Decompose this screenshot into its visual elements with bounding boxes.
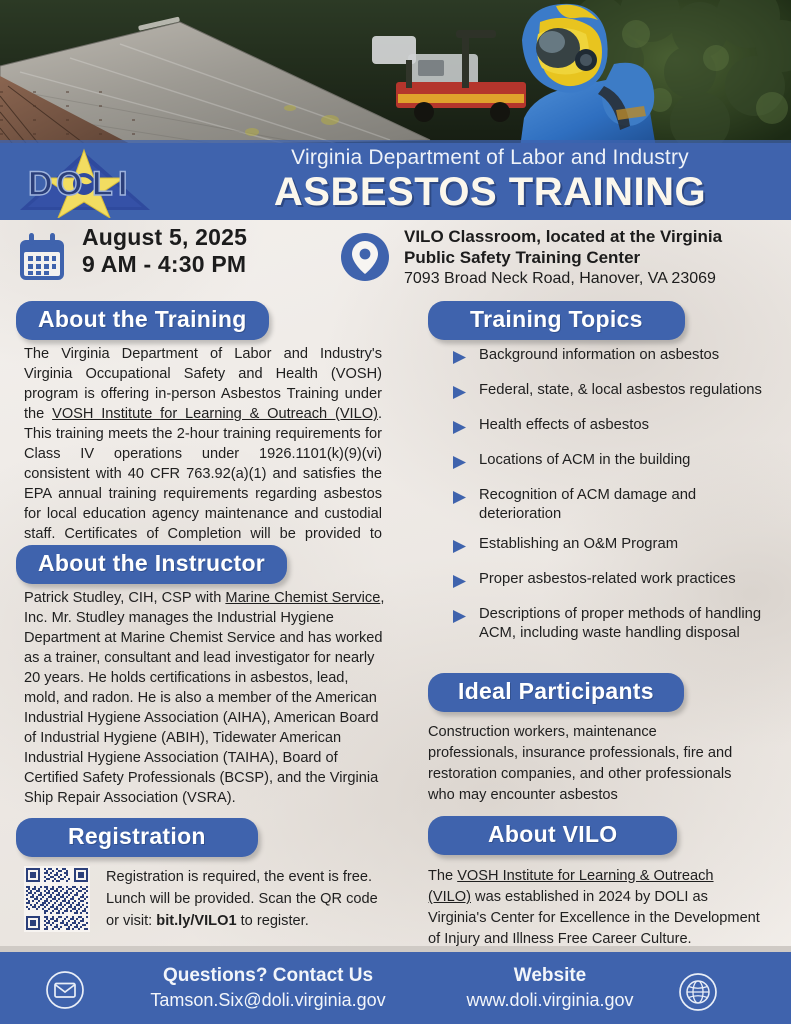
topic-label: Locations of ACM in the building: [479, 451, 690, 470]
registration-link[interactable]: bit.ly/VILO1: [156, 913, 236, 929]
svg-text:L: L: [92, 165, 114, 203]
instructor-text-1: Patrick Studley, CIH, CSP with: [24, 590, 225, 606]
event-location-block: VILO Classroom, located at the Virginia …: [404, 226, 784, 289]
arrow-right-bullet-icon: [452, 490, 467, 510]
qr-code[interactable]: [24, 866, 90, 932]
topic-label: Health effects of asbestos: [479, 416, 649, 435]
footer-bar: Questions? Contact Us Tamson.Six@doli.vi…: [0, 952, 791, 1024]
envelope-icon: [45, 970, 85, 1015]
list-item: Locations of ACM in the building: [452, 451, 772, 475]
list-item: Health effects of asbestos: [452, 416, 772, 440]
topic-label: Descriptions of proper methods of handli…: [479, 605, 772, 643]
ideal-participants-heading-wrap: Ideal Participants: [428, 673, 684, 712]
asbestos-removal-photo: [0, 0, 791, 148]
marine-chemist-link[interactable]: Marine Chemist Service: [225, 590, 380, 606]
vilo-link-1[interactable]: VOSH Institute for Learning & Outreach (…: [52, 406, 378, 422]
about-instructor-heading: About the Instructor: [16, 545, 287, 584]
hero-photo-banner: [0, 0, 791, 148]
arrow-right-bullet-icon: [452, 455, 467, 475]
event-info-strip: August 5, 2025 9 AM - 4:30 PM VILO Class…: [0, 222, 791, 294]
about-instructor-heading-wrap: About the Instructor: [16, 545, 287, 584]
arrow-right-bullet-icon: [452, 350, 467, 370]
about-instructor-body: Patrick Studley, CIH, CSP with Marine Ch…: [24, 588, 386, 808]
event-time: 9 AM - 4:30 PM: [82, 251, 247, 278]
venue-line-1: VILO Classroom, located at the Virginia: [404, 226, 784, 247]
registration-heading: Registration: [16, 818, 258, 857]
ideal-participants-body: Construction workers, maintenance profes…: [428, 722, 748, 806]
ideal-participants-heading: Ideal Participants: [428, 673, 684, 712]
training-topics-heading-wrap: Training Topics: [428, 301, 685, 340]
about-vilo-heading: About VILO: [428, 816, 677, 855]
topic-label: Recognition of ACM damage and deteriorat…: [479, 486, 772, 524]
list-item: Proper asbestos-related work practices: [452, 570, 772, 594]
footer-website-block: Website www.doli.virginia.gov: [430, 964, 670, 1012]
training-topics-list: Background information on asbestos Feder…: [452, 346, 772, 654]
svg-text:I: I: [118, 165, 128, 203]
list-item: Establishing an O&M Program: [452, 535, 772, 559]
registration-heading-wrap: Registration: [16, 818, 258, 857]
venue-line-2: Public Safety Training Center: [404, 247, 784, 268]
topic-label: Background information on asbestos: [479, 346, 719, 365]
list-item: Federal, state, & local asbestos regulat…: [452, 381, 772, 405]
header-subtitle: Virginia Department of Labor and Industr…: [190, 146, 790, 170]
website-url[interactable]: www.doli.virginia.gov: [430, 988, 670, 1012]
arrow-right-bullet-icon: [452, 385, 467, 405]
arrow-right-bullet-icon: [452, 420, 467, 440]
event-date: August 5, 2025: [82, 224, 247, 251]
svg-text:D: D: [28, 165, 54, 203]
calendar-icon: [16, 232, 68, 289]
about-training-heading-wrap: About the Training: [16, 301, 269, 340]
registration-text-2: to register.: [237, 913, 309, 929]
about-training-text-2: . This training meets the 2-hour trainin…: [24, 406, 382, 562]
about-vilo-text-1: The: [428, 868, 457, 884]
contact-title: Questions? Contact Us: [108, 964, 428, 988]
list-item: Recognition of ACM damage and deteriorat…: [452, 486, 772, 524]
arrow-right-bullet-icon: [452, 609, 467, 629]
contact-email[interactable]: Tamson.Six@doli.virginia.gov: [108, 988, 428, 1012]
svg-text:O: O: [56, 165, 83, 203]
map-pin-icon: [340, 232, 390, 287]
arrow-right-bullet-icon: [452, 539, 467, 559]
header-title: ASBESTOS TRAINING: [190, 170, 790, 215]
topic-label: Proper asbestos-related work practices: [479, 570, 736, 589]
about-vilo-body: The VOSH Institute for Learning & Outrea…: [428, 866, 760, 950]
about-training-heading: About the Training: [16, 301, 269, 340]
about-vilo-heading-wrap: About VILO: [428, 816, 677, 855]
arrow-right-bullet-icon: [452, 574, 467, 594]
topic-label: Establishing an O&M Program: [479, 535, 678, 554]
website-title: Website: [430, 964, 670, 988]
about-vilo-text-2: was established in 2024 by DOLI as Virgi…: [428, 889, 760, 947]
flyer-page: D O L I Virginia Department of Labor and…: [0, 0, 791, 1024]
about-training-body: The Virginia Department of Labor and Ind…: [24, 344, 382, 564]
globe-icon: [678, 972, 718, 1017]
venue-address: 7093 Broad Neck Road, Hanover, VA 23069: [404, 268, 784, 289]
training-topics-heading: Training Topics: [428, 301, 685, 340]
doli-logo: D O L I: [14, 148, 182, 218]
instructor-text-2: , Inc. Mr. Studley manages the Industria…: [24, 590, 384, 806]
list-item: Background information on asbestos: [452, 346, 772, 370]
topic-label: Federal, state, & local asbestos regulat…: [479, 381, 762, 400]
footer-contact-block: Questions? Contact Us Tamson.Six@doli.vi…: [108, 964, 428, 1012]
registration-body: Registration is required, the event is f…: [106, 866, 392, 932]
list-item: Descriptions of proper methods of handli…: [452, 605, 772, 643]
event-date-block: August 5, 2025 9 AM - 4:30 PM: [82, 224, 247, 278]
